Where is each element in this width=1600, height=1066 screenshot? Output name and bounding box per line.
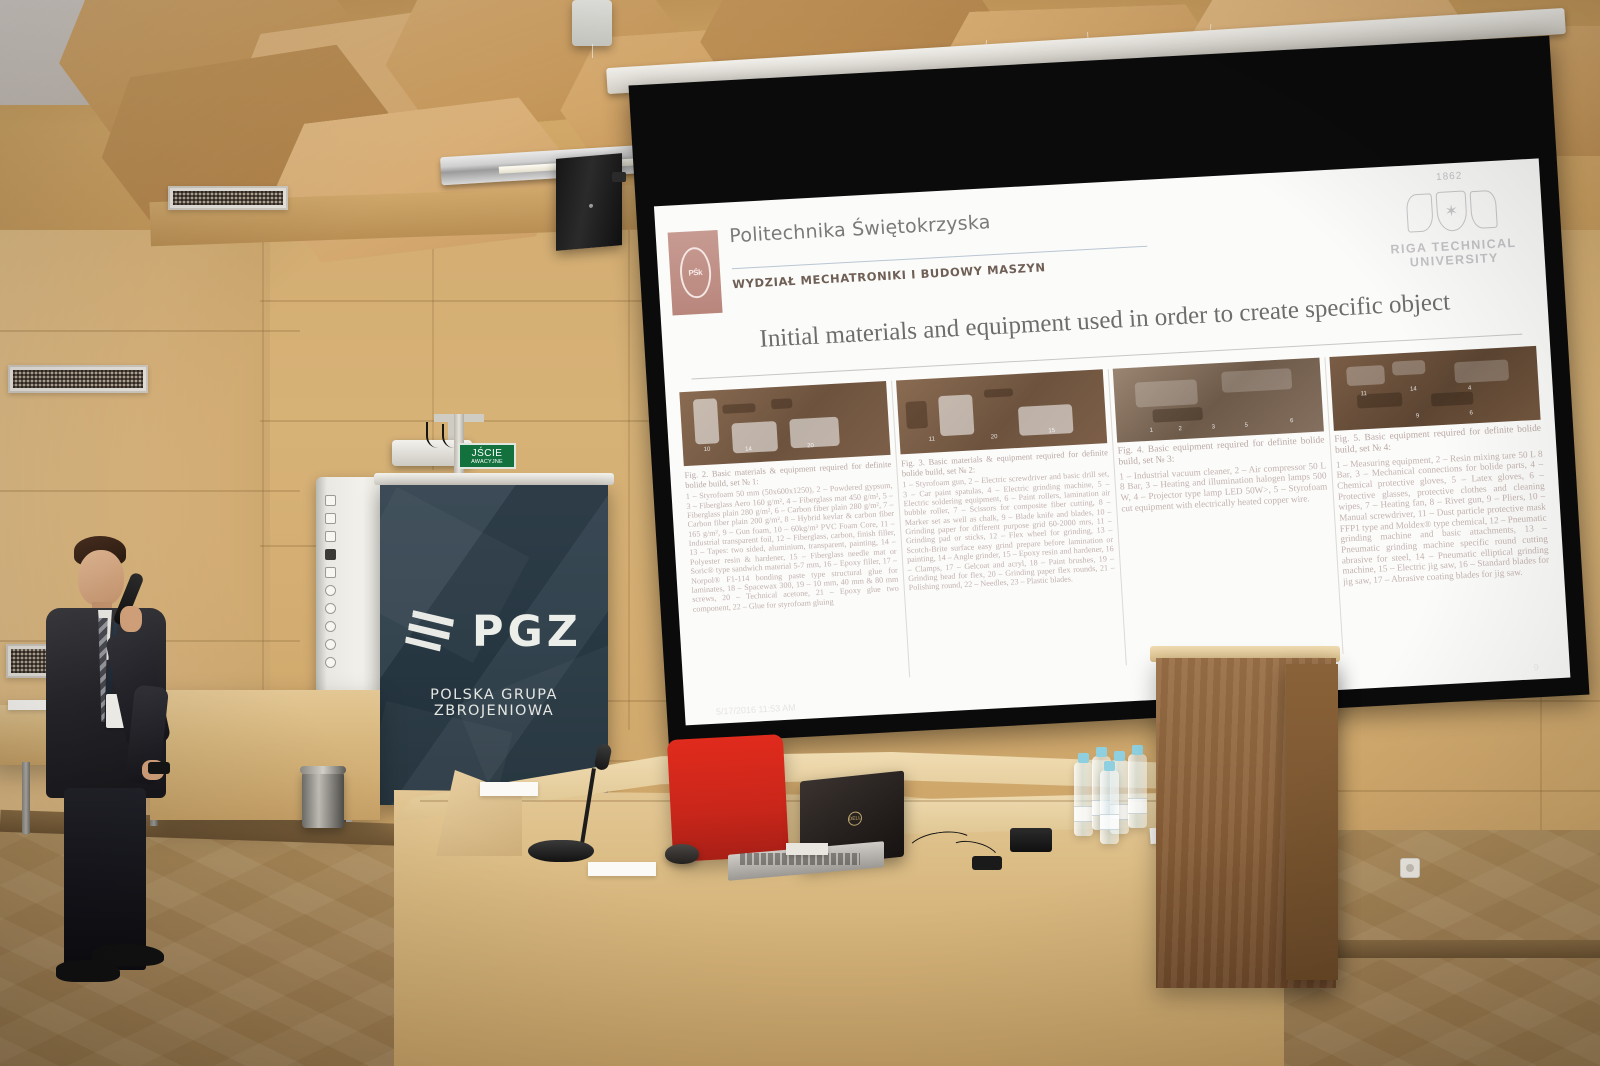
figure-panels: 10 14 20 Fig. 2. Basic materials & equip… <box>680 346 1555 688</box>
eraser-icon[interactable] <box>325 549 336 560</box>
projection-screen-frame: PŚk Politechnika Świętokrzyska WYDZIAŁ M… <box>629 36 1590 745</box>
bottle-label <box>1128 798 1147 814</box>
computer-mouse[interactable] <box>665 844 699 864</box>
figure-panel: 11 14 4 9 6 Fig. 5. Basic equipment requ… <box>1324 346 1554 653</box>
presenter-hand-mic <box>120 606 142 632</box>
presenter <box>38 536 218 988</box>
banner-top-rail <box>374 473 614 485</box>
figure-photo: 11 14 4 9 6 <box>1329 346 1540 431</box>
podium-side <box>1286 664 1338 980</box>
select-icon[interactable] <box>325 567 336 578</box>
copy-icon[interactable] <box>325 513 336 524</box>
griffin-left-icon <box>1405 193 1433 232</box>
waste-bin <box>302 770 344 828</box>
presenter-head <box>78 550 124 606</box>
griffin-right-icon <box>1469 189 1497 228</box>
figure-photo: 1 2 3 5 6 <box>1113 358 1324 443</box>
exit-sign-line1: JŚCIE <box>472 448 503 459</box>
remote-device[interactable] <box>1010 828 1052 852</box>
paper-sheet <box>588 862 656 876</box>
bottle-cap <box>1132 745 1143 755</box>
slide-timestamp: 5/17/2016 11:53 AM <box>716 702 796 716</box>
rtu-coat-of-arms: ✶ <box>1379 178 1524 243</box>
baseboard <box>1330 940 1600 958</box>
speaker-bracket <box>612 172 626 182</box>
power-adapter <box>972 856 1002 870</box>
water-bottle[interactable] <box>1074 762 1093 836</box>
pgz-chevron-icon <box>406 611 462 653</box>
figure-panel: 10 14 20 Fig. 2. Basic materials & equip… <box>680 381 905 688</box>
bin-lid <box>300 766 346 774</box>
politechnika-logo-mark: PŚk <box>678 246 712 299</box>
air-vent <box>8 365 148 393</box>
paper-sheet <box>480 782 538 796</box>
figure-caption-body: 1 – Measuring equipment, 2 – Resin mixin… <box>1336 448 1550 587</box>
air-vent <box>168 186 288 210</box>
undo-icon[interactable] <box>325 639 336 650</box>
presenter-shoe-right <box>92 944 164 966</box>
table-leg <box>22 762 30 834</box>
pgz-banner: PGZ POLSKA GRUPA ZBROJENIOWA <box>380 485 608 805</box>
bottle-label <box>1074 806 1093 822</box>
figure-photo: 11 20 15 <box>896 369 1107 454</box>
ceiling-light-fixture <box>572 0 612 46</box>
slide-page-number: 9 <box>1533 662 1539 672</box>
redo-icon[interactable] <box>325 657 336 668</box>
presentation-slide: PŚk Politechnika Świętokrzyska WYDZIAŁ M… <box>654 158 1570 725</box>
office-chair[interactable] <box>667 734 789 862</box>
bottle-cap <box>1078 753 1089 763</box>
figure-caption-body: 1 – Styrofoam 50 mm (50x600x1250), 2 – P… <box>686 481 900 614</box>
wall-speaker <box>556 153 622 251</box>
figure-photo: 10 14 20 <box>680 381 891 466</box>
presentation-room-photo: PŚk Politechnika Świętokrzyska WYDZIAŁ M… <box>0 0 1600 1066</box>
pen-icon[interactable] <box>325 585 336 596</box>
laptop-sticker <box>786 843 828 855</box>
bottle-label <box>1100 814 1119 830</box>
whiteboard-tool-rail[interactable] <box>320 487 340 707</box>
dell-logo: DELL <box>848 811 862 826</box>
slide-title: Initial materials and equipment used in … <box>688 284 1521 357</box>
bottle-cap <box>1096 747 1107 757</box>
pgz-wordmark: PGZ <box>472 607 582 657</box>
university-name-pl: Politechnika Świętokrzyska <box>729 211 991 247</box>
presenter-legs <box>64 788 146 970</box>
figure-panel: 1 2 3 5 6 Fig. 4. Basic equipment requir… <box>1108 358 1338 665</box>
figure-caption-body: 1 – Styrofoam gun, 2 – Electric screwdri… <box>902 469 1115 592</box>
bottle-cap <box>1104 761 1115 771</box>
highlighter-icon[interactable] <box>325 603 336 614</box>
page-icon[interactable] <box>325 495 336 506</box>
bottle-cap <box>1114 751 1125 761</box>
pgz-tagline: POLSKA GRUPA ZBROJENIOWA <box>380 687 608 719</box>
figure-caption-body: 1 – Industrial vacuum cleaner, 2 – Air c… <box>1119 460 1328 514</box>
riga-technical-university-logo: 1862 ✶ RIGA TECHNICAL UNIVERSITY <box>1378 167 1527 299</box>
emergency-exit-sign: JŚCIE AWACYJNE <box>458 443 516 469</box>
politechnika-logo: PŚk <box>668 230 723 316</box>
wall-power-socket[interactable] <box>1400 858 1420 878</box>
shape-icon[interactable] <box>325 621 336 632</box>
shield-icon: ✶ <box>1435 190 1467 232</box>
presentation-clicker[interactable] <box>148 762 170 774</box>
water-bottle[interactable] <box>1128 754 1147 828</box>
water-bottle[interactable] <box>1100 770 1119 844</box>
figure-panel: 11 20 15 Fig. 3. Basic materials & equip… <box>891 369 1121 676</box>
exit-sign-line2: AWACYJNE <box>471 459 503 465</box>
pgz-logo: PGZ <box>380 607 608 657</box>
document-icon[interactable] <box>325 531 336 542</box>
desk-microphone-base <box>528 840 594 862</box>
